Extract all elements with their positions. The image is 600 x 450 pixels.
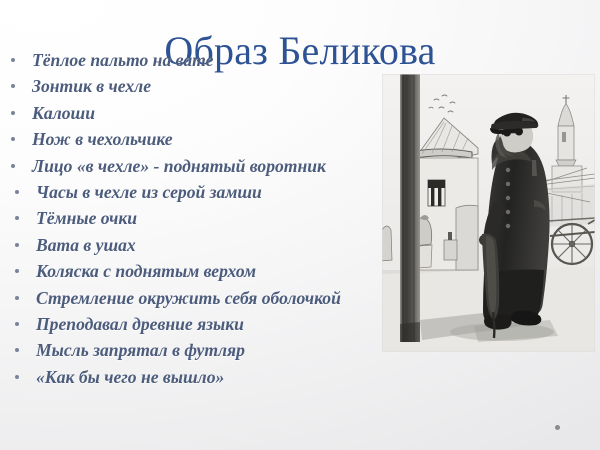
list-item-label: Стремление окружить себя оболочкой bbox=[36, 288, 341, 308]
list-item-label: Нож в чехольчике bbox=[32, 129, 173, 149]
list-item: Тёплое пальто на вате bbox=[0, 48, 372, 73]
bullet-marker-icon bbox=[15, 375, 19, 379]
list-item-label: Тёмные очки bbox=[36, 208, 137, 228]
list-item-label: Тёплое пальто на вате bbox=[32, 50, 213, 70]
bullet-marker-icon bbox=[15, 269, 19, 273]
bullet-marker-icon bbox=[15, 243, 19, 247]
list-item: Преподавал древние языки bbox=[0, 312, 372, 337]
bullet-list: Тёплое пальто на вате Зонтик в чехле Кал… bbox=[0, 48, 372, 391]
list-item: «Как бы чего не вышло» bbox=[0, 365, 372, 390]
list-item: Калоши bbox=[0, 101, 372, 126]
bullet-marker-icon bbox=[15, 216, 19, 220]
list-item: Вата в ушах bbox=[0, 233, 372, 258]
list-item: Стремление окружить себя оболочкой bbox=[0, 286, 372, 311]
bullet-marker-icon bbox=[15, 190, 19, 194]
bullet-marker-icon bbox=[11, 111, 15, 115]
list-item: Мысль запрятал в футляр bbox=[0, 338, 372, 363]
list-item-label: Мысль запрятал в футляр bbox=[36, 340, 245, 360]
stray-bullet-marker-icon bbox=[555, 425, 560, 430]
bullet-marker-icon bbox=[15, 348, 19, 352]
belikov-illustration-graphic bbox=[382, 74, 595, 352]
list-item: Тёмные очки bbox=[0, 206, 372, 231]
list-item-label: Коляска с поднятым верхом bbox=[36, 261, 256, 281]
bullet-marker-icon bbox=[11, 137, 15, 141]
bullet-marker-icon bbox=[11, 84, 15, 88]
bullet-marker-icon bbox=[11, 58, 15, 62]
list-item-label: Вата в ушах bbox=[36, 235, 136, 255]
list-item-label: Лицо «в чехле» - поднятый воротник bbox=[32, 156, 326, 176]
list-item: Часы в чехле из серой замши bbox=[0, 180, 372, 205]
slide: Образ Беликова Тёплое пальто на вате Зон… bbox=[0, 0, 600, 450]
list-item: Зонтик в чехле bbox=[0, 74, 372, 99]
list-item: Нож в чехольчике bbox=[0, 127, 372, 152]
list-item-label: Часы в чехле из серой замши bbox=[36, 182, 262, 202]
bullet-marker-icon bbox=[15, 296, 19, 300]
list-item: Коляска с поднятым верхом bbox=[0, 259, 372, 284]
list-item: Лицо «в чехле» - поднятый воротник bbox=[0, 154, 372, 179]
bullet-marker-icon bbox=[11, 164, 15, 168]
list-item-label: Калоши bbox=[32, 103, 95, 123]
list-item-label: «Как бы чего не вышло» bbox=[36, 367, 224, 387]
bullet-marker-icon bbox=[15, 322, 19, 326]
belikov-illustration bbox=[382, 74, 595, 352]
list-item-label: Преподавал древние языки bbox=[36, 314, 244, 334]
list-item-label: Зонтик в чехле bbox=[32, 76, 151, 96]
